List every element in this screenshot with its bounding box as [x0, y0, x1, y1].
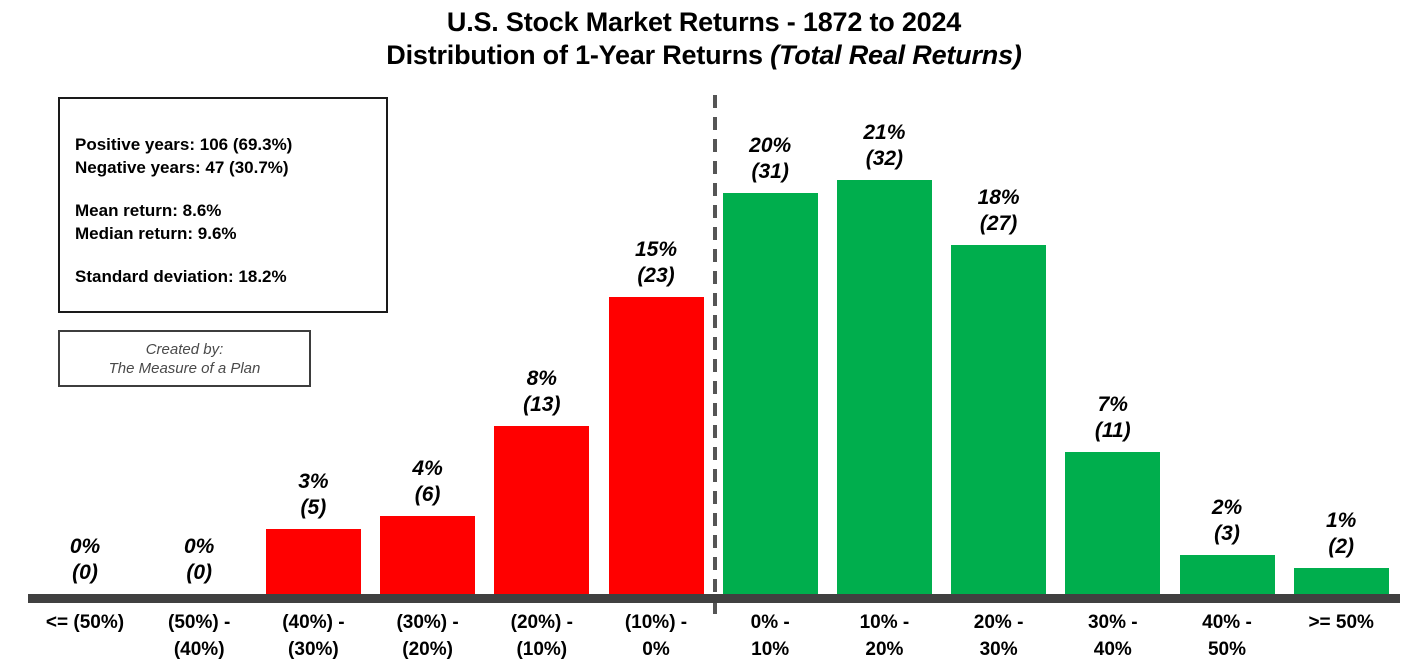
bar-value-label-10: 7%(11)	[1048, 392, 1178, 444]
x-axis-label-3: (40%) -(30%)	[248, 609, 378, 663]
bar-percent-12: 1%	[1276, 508, 1406, 534]
x-axis-label-9-line-2: 30%	[934, 636, 1064, 663]
x-axis-label-9: 20% -30%	[934, 609, 1064, 663]
bar-value-label-12: 1%(2)	[1276, 508, 1406, 560]
bar-11[interactable]	[1180, 555, 1275, 594]
bar-value-label-1: 0%(0)	[20, 534, 150, 586]
x-axis-label-3-line-1: (40%) -	[248, 609, 378, 636]
chart-root: U.S. Stock Market Returns - 1872 to 2024…	[0, 0, 1408, 672]
x-axis-label-6-line-2: 0%	[591, 636, 721, 663]
x-axis-label-1: <= (50%)	[20, 609, 150, 636]
bar-count-6: (23)	[591, 263, 721, 289]
bar-percent-8: 21%	[819, 120, 949, 146]
bar-value-label-6: 15%(23)	[591, 237, 721, 289]
bar-count-1: (0)	[20, 560, 150, 586]
x-axis-label-1-line-1: <= (50%)	[20, 609, 150, 636]
x-axis-label-5-line-2: (10%)	[477, 636, 607, 663]
x-axis-line	[28, 594, 1400, 603]
bar-count-11: (3)	[1162, 521, 1292, 547]
x-axis-label-2-line-2: (40%)	[134, 636, 264, 663]
x-axis-label-2: (50%) -(40%)	[134, 609, 264, 663]
bar-percent-2: 0%	[134, 534, 264, 560]
x-axis-label-12: >= 50%	[1276, 609, 1406, 636]
x-axis-label-2-line-1: (50%) -	[134, 609, 264, 636]
bar-value-label-9: 18%(27)	[934, 185, 1064, 237]
x-axis-label-7-line-1: 0% -	[705, 609, 835, 636]
x-axis-label-10-line-1: 30% -	[1048, 609, 1178, 636]
bar-percent-9: 18%	[934, 185, 1064, 211]
x-axis-label-10-line-2: 40%	[1048, 636, 1178, 663]
bar-percent-10: 7%	[1048, 392, 1178, 418]
bar-value-label-5: 8%(13)	[477, 366, 607, 418]
bar-count-5: (13)	[477, 392, 607, 418]
bar-value-label-7: 20%(31)	[705, 133, 835, 185]
x-axis-label-3-line-2: (30%)	[248, 636, 378, 663]
bar-count-12: (2)	[1276, 534, 1406, 560]
bar-percent-1: 0%	[20, 534, 150, 560]
x-axis-label-8: 10% -20%	[819, 609, 949, 663]
bar-percent-7: 20%	[705, 133, 835, 159]
x-axis-label-5-line-1: (20%) -	[477, 609, 607, 636]
bar-value-label-8: 21%(32)	[819, 120, 949, 172]
bar-percent-4: 4%	[363, 456, 493, 482]
x-axis-label-10: 30% -40%	[1048, 609, 1178, 663]
x-axis-label-8-line-2: 20%	[819, 636, 949, 663]
bar-8[interactable]	[837, 180, 932, 594]
bar-3[interactable]	[266, 529, 361, 594]
x-axis-label-5: (20%) -(10%)	[477, 609, 607, 663]
plot-area: 0%(0)<= (50%)0%(0)(50%) -(40%)3%(5)(40%)…	[0, 0, 1408, 672]
bar-value-label-11: 2%(3)	[1162, 495, 1292, 547]
bar-count-9: (27)	[934, 211, 1064, 237]
x-axis-label-4: (30%) -(20%)	[363, 609, 493, 663]
bar-count-7: (31)	[705, 159, 835, 185]
bar-12[interactable]	[1294, 568, 1389, 594]
bar-6[interactable]	[609, 297, 704, 594]
bar-10[interactable]	[1065, 452, 1160, 594]
x-axis-label-9-line-1: 20% -	[934, 609, 1064, 636]
bar-percent-3: 3%	[248, 469, 378, 495]
x-axis-label-11-line-2: 50%	[1162, 636, 1292, 663]
bar-percent-11: 2%	[1162, 495, 1292, 521]
bar-count-2: (0)	[134, 560, 264, 586]
x-axis-label-7-line-2: 10%	[705, 636, 835, 663]
x-axis-label-12-line-1: >= 50%	[1276, 609, 1406, 636]
bar-value-label-3: 3%(5)	[248, 469, 378, 521]
bar-percent-6: 15%	[591, 237, 721, 263]
bar-percent-5: 8%	[477, 366, 607, 392]
x-axis-label-6: (10%) -0%	[591, 609, 721, 663]
x-axis-label-8-line-1: 10% -	[819, 609, 949, 636]
x-axis-label-4-line-2: (20%)	[363, 636, 493, 663]
bar-count-4: (6)	[363, 482, 493, 508]
bar-count-8: (32)	[819, 146, 949, 172]
x-axis-label-7: 0% -10%	[705, 609, 835, 663]
x-axis-label-6-line-1: (10%) -	[591, 609, 721, 636]
bar-4[interactable]	[380, 516, 475, 594]
bar-9[interactable]	[951, 245, 1046, 594]
bar-7[interactable]	[723, 193, 818, 594]
bar-5[interactable]	[494, 426, 589, 594]
x-axis-label-11: 40% -50%	[1162, 609, 1292, 663]
bar-value-label-2: 0%(0)	[134, 534, 264, 586]
bar-count-3: (5)	[248, 495, 378, 521]
x-axis-label-4-line-1: (30%) -	[363, 609, 493, 636]
bar-count-10: (11)	[1048, 418, 1178, 444]
x-axis-label-11-line-1: 40% -	[1162, 609, 1292, 636]
bar-value-label-4: 4%(6)	[363, 456, 493, 508]
